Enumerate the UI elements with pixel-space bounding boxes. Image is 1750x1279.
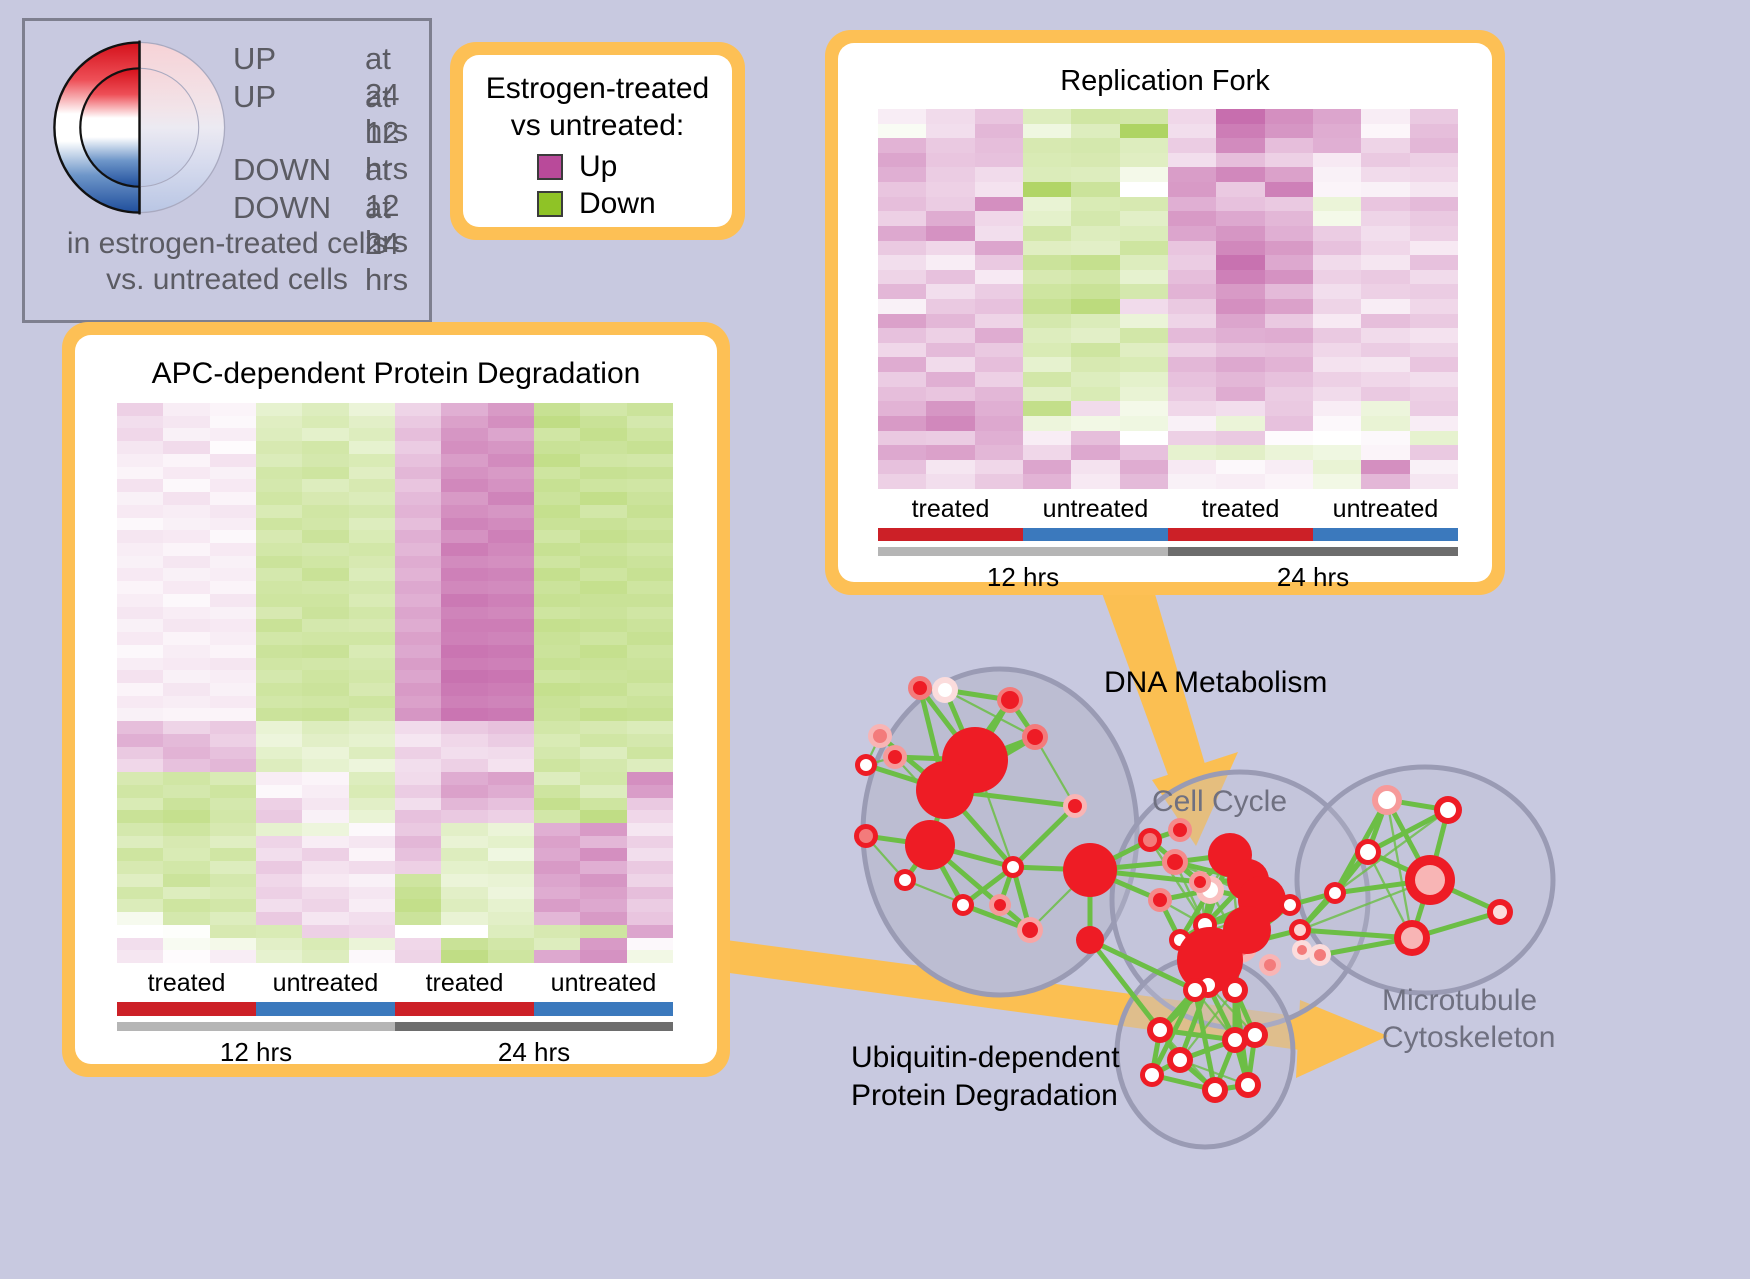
key-ring-label-down24: DOWN (233, 190, 331, 226)
heatmap-cell (926, 211, 974, 226)
heatmap-cell (1410, 401, 1458, 416)
heatmap-cell (580, 543, 626, 556)
heatmap-cell (302, 708, 348, 721)
heatmap-cell (117, 556, 163, 569)
heatmap-cell (1023, 167, 1071, 182)
heatmap-cell (302, 428, 348, 441)
heatmap-cell (210, 428, 256, 441)
heatmap-cell (534, 887, 580, 900)
heatmap-cell (975, 357, 1023, 372)
heatmap-cell (878, 197, 926, 212)
heatmap-cell (117, 823, 163, 836)
heatmap-cell (1313, 255, 1361, 270)
network-node (1022, 724, 1048, 750)
heatmap-cell (302, 467, 348, 480)
heatmap-cell (975, 299, 1023, 314)
heatmap-cell (163, 912, 209, 925)
heatmap-cell (627, 556, 673, 569)
heatmap-cell (117, 568, 163, 581)
heatmap-cell (302, 619, 348, 632)
heatmap-cell (627, 479, 673, 492)
heatmap-cell (117, 721, 163, 734)
heatmap-cell (534, 556, 580, 569)
time-label-12hrs: 12 hrs (878, 562, 1168, 594)
heatmap-cell (441, 416, 487, 429)
heatmap-cell (1216, 343, 1264, 358)
heatmap-cell (878, 167, 926, 182)
heatmap-cell (1265, 401, 1313, 416)
heatmap-cell (1216, 153, 1264, 168)
heatmap-cell (117, 670, 163, 683)
heatmap-cell (926, 372, 974, 387)
heatmap-cell (926, 124, 974, 139)
heatmap-cell (1313, 270, 1361, 285)
heatmap-cell (975, 401, 1023, 416)
heatmap-cell (1410, 328, 1458, 343)
heatmap-cell (488, 441, 534, 454)
network-node (1193, 913, 1217, 937)
heatmap-replication-fork[interactable] (878, 109, 1458, 489)
network-node (1183, 978, 1207, 1002)
heatmap-cell (1120, 314, 1168, 329)
heatmap-cell (117, 798, 163, 811)
heatmap-cell (627, 670, 673, 683)
heatmap-cell (163, 848, 209, 861)
treatment-bar-segment-untreated-12 (1023, 528, 1168, 541)
heatmap-cell (441, 632, 487, 645)
network-node (1222, 977, 1248, 1003)
network-node (1195, 972, 1221, 998)
heatmap-cell (1120, 387, 1168, 402)
treatment-bar-segment-untreated-12 (256, 1002, 395, 1016)
network-node (1189, 871, 1211, 893)
heatmap-cell (1265, 241, 1313, 256)
heatmap-cell (302, 556, 348, 569)
network-node (932, 677, 958, 703)
heatmap-cell (1410, 460, 1458, 475)
heatmap-cell (302, 479, 348, 492)
heatmap-cell (1361, 153, 1409, 168)
heatmap-cell (395, 836, 441, 849)
heatmap-cell (627, 454, 673, 467)
network-node-core (1173, 823, 1187, 837)
heatmap-cell (1071, 241, 1119, 256)
heatmap-cell (1168, 328, 1216, 343)
heatmap-cell (395, 912, 441, 925)
heatmap-cell (975, 387, 1023, 402)
heatmap-cell (1168, 197, 1216, 212)
heatmap-cell (1410, 474, 1458, 489)
half-circle-colorscale-icon (47, 35, 232, 220)
heatmap-cell (1168, 226, 1216, 241)
time-bar-segment-12hrs (878, 547, 1168, 556)
heatmap-cell (395, 632, 441, 645)
heatmap-cell (580, 670, 626, 683)
heatmap-cell (1410, 197, 1458, 212)
heatmap-cell (441, 670, 487, 683)
heatmap-cell (395, 823, 441, 836)
network-node (1259, 954, 1281, 976)
heatmap-cell (395, 479, 441, 492)
heatmap-cell (1410, 167, 1458, 182)
heatmap-cell (1071, 401, 1119, 416)
heatmap-cell (1313, 167, 1361, 182)
network-node-core (1493, 905, 1507, 919)
heatmap-cell (580, 403, 626, 416)
heatmap-cell (926, 270, 974, 285)
heatmap-cell (627, 543, 673, 556)
heatmap-cell (1168, 211, 1216, 226)
network-node (942, 727, 1008, 793)
heatmap-cell (580, 823, 626, 836)
heatmap-cell (580, 518, 626, 531)
heatmap-cell (441, 530, 487, 543)
legend-label-up: Up (579, 150, 617, 184)
heatmap-cell (975, 416, 1023, 431)
heatmap-cell (163, 899, 209, 912)
heatmap-cell (395, 454, 441, 467)
heatmap-cell (926, 357, 974, 372)
heatmap-cell (163, 670, 209, 683)
heatmap-cell (975, 460, 1023, 475)
heatmap-cell (1168, 387, 1216, 402)
heatmap-cell (878, 445, 926, 460)
heatmap-cell (349, 823, 395, 836)
heatmap-cell (210, 416, 256, 429)
heatmap-cell (256, 568, 302, 581)
heatmap-cell (395, 428, 441, 441)
heatmap-cell (441, 658, 487, 671)
heatmap-cell (349, 836, 395, 849)
heatmap-cell (210, 454, 256, 467)
heatmap-cell (210, 912, 256, 925)
heatmap-cell (395, 416, 441, 429)
heatmap-cell (1168, 416, 1216, 431)
legend-item-up[interactable]: Up (537, 148, 732, 185)
heatmap-cell (1120, 167, 1168, 182)
heatmap-cell (210, 708, 256, 721)
heatmap-cell (580, 912, 626, 925)
heatmap-cell (256, 848, 302, 861)
heatmap-cell (163, 887, 209, 900)
heatmap-cell (627, 938, 673, 951)
network-node (1289, 919, 1311, 941)
heatmap-cell (256, 594, 302, 607)
heatmap-cell (1313, 357, 1361, 372)
heatmap-cell (488, 658, 534, 671)
heatmap-cell (349, 619, 395, 632)
cluster-label-ubiquitin-line1: Ubiquitin-dependent (851, 1039, 1120, 1077)
network-node-core (1378, 791, 1396, 809)
heatmap-cell (210, 848, 256, 861)
heatmap-cell (349, 658, 395, 671)
network-node-core (1153, 1023, 1167, 1037)
heatmap-cell (117, 899, 163, 912)
treatment-bar-segment-treated-12 (878, 528, 1023, 541)
heatmap-cell (878, 255, 926, 270)
key-ring-label-down12: DOWN (233, 152, 331, 188)
heatmap-cell (1361, 241, 1409, 256)
heatmap-cell (163, 747, 209, 760)
heatmap-cell (349, 416, 395, 429)
network-node (1138, 828, 1162, 852)
heatmap-cell (878, 474, 926, 489)
heatmap-cell (1023, 416, 1071, 431)
heatmap-cell (926, 431, 974, 446)
heatmap-cell (488, 467, 534, 480)
heatmap-cell (441, 403, 487, 416)
heatmap-cell (117, 607, 163, 620)
network-node (1238, 876, 1286, 924)
heatmap-cell (627, 708, 673, 721)
heatmap-cell (349, 861, 395, 874)
heatmap-cell (488, 492, 534, 505)
heatmap-cell (302, 441, 348, 454)
heatmap-cell (1265, 357, 1313, 372)
heatmap-cell (163, 581, 209, 594)
heatmap-cell (534, 734, 580, 747)
heatmap-cell (1410, 211, 1458, 226)
heatmap-cell (1265, 314, 1313, 329)
network-node-core (1188, 983, 1202, 997)
heatmap-cell (163, 568, 209, 581)
heatmap-cell (878, 182, 926, 197)
heatmap-cell (580, 836, 626, 849)
heatmap-cell (627, 607, 673, 620)
network-node (1394, 920, 1430, 956)
panel-title-replication-fork: Replication Fork (838, 65, 1492, 98)
heatmap-cell (1023, 255, 1071, 270)
group-label-treated-12: treated (117, 969, 256, 999)
network-node (1196, 876, 1224, 904)
heatmap-cell (256, 428, 302, 441)
network-node (1372, 785, 1402, 815)
network-node-core (1360, 844, 1376, 860)
time-label-12hrs: 12 hrs (117, 1037, 395, 1069)
heatmap-cell (117, 848, 163, 861)
heatmap-cell (488, 556, 534, 569)
heatmap-cell (1120, 284, 1168, 299)
heatmap-cell (163, 467, 209, 480)
heatmap-cell (627, 645, 673, 658)
heatmap-cell (627, 848, 673, 861)
heatmap-cell (580, 530, 626, 543)
heatmap-cell (1071, 284, 1119, 299)
heatmap-cell (395, 556, 441, 569)
network-node-core (1228, 1033, 1242, 1047)
legend-item-down[interactable]: Down (537, 185, 732, 222)
heatmap-cell (975, 211, 1023, 226)
heatmap-cell (441, 734, 487, 747)
heatmap-cell (163, 785, 209, 798)
network-node-core (938, 683, 952, 697)
heatmap-cell (302, 938, 348, 951)
heatmap-cell (488, 645, 534, 658)
heatmap-cell (441, 912, 487, 925)
heatmap-cell (1265, 153, 1313, 168)
heatmap-cell (210, 785, 256, 798)
heatmap-cell (878, 314, 926, 329)
heatmap-cell (395, 861, 441, 874)
heatmap-cell (975, 314, 1023, 329)
heatmap-cell (627, 658, 673, 671)
heatmap-cell (349, 912, 395, 925)
heatmap-cell (580, 696, 626, 709)
heatmap-cell (534, 721, 580, 734)
heatmap-cell (441, 721, 487, 734)
heatmap-cell (926, 167, 974, 182)
heatmap-cell (395, 772, 441, 785)
heatmap-cell (117, 428, 163, 441)
heatmap-cell (256, 708, 302, 721)
heatmap-cell (256, 950, 302, 963)
heatmap-cell (117, 594, 163, 607)
heatmap-cell (441, 568, 487, 581)
heatmap-cell (1410, 109, 1458, 124)
network-node (1063, 794, 1087, 818)
heatmap-cell (349, 798, 395, 811)
heatmap-cell (256, 556, 302, 569)
heatmap-cell (1071, 445, 1119, 460)
heatmap-cell (441, 467, 487, 480)
heatmap-cell (210, 925, 256, 938)
legend-swatch-up-icon (537, 154, 563, 180)
heatmap-cell (441, 428, 487, 441)
network-node-core (1001, 691, 1019, 709)
heatmap-cell (1361, 197, 1409, 212)
network-node-core (994, 899, 1006, 911)
heatmap-cell (1120, 401, 1168, 416)
heatmap-cell (580, 645, 626, 658)
heatmap-cell (1168, 445, 1216, 460)
heatmap-cell (256, 467, 302, 480)
heatmap-cell (441, 823, 487, 836)
heatmap-cell (117, 530, 163, 543)
heatmap-cell (1120, 226, 1168, 241)
heatmap-cell (1361, 167, 1409, 182)
heatmap-cell (1168, 372, 1216, 387)
heatmap-cell (1071, 431, 1119, 446)
heatmap-cell (878, 211, 926, 226)
heatmap-cell (1071, 343, 1119, 358)
time-labels-replication-fork: 12 hrs 24 hrs (878, 562, 1458, 594)
treatment-bar-segment-treated-24 (395, 1002, 534, 1016)
heatmap-cell (210, 594, 256, 607)
heatmap-cell (1071, 387, 1119, 402)
heatmap-cell (1361, 357, 1409, 372)
key-footnote-line1: in estrogen-treated cells (25, 226, 429, 262)
heatmap-cell (1410, 182, 1458, 197)
heatmap-cell (627, 798, 673, 811)
key-ring-label-up12: UP (233, 79, 276, 115)
network-node (1167, 1047, 1193, 1073)
heatmap-cell (1023, 357, 1071, 372)
heatmap-cell (1361, 314, 1409, 329)
heatmap-cell (1313, 299, 1361, 314)
network-node-core (1007, 861, 1019, 873)
heatmap-cell (975, 182, 1023, 197)
key-footnote-line2: vs. untreated cells (25, 262, 429, 298)
heatmap-cell (302, 823, 348, 836)
heatmap-cell (1410, 343, 1458, 358)
heatmap-cell (1120, 474, 1168, 489)
heatmap-cell (441, 810, 487, 823)
network-node (1177, 927, 1243, 993)
heatmap-cell (395, 747, 441, 760)
heatmap-cell (349, 645, 395, 658)
heatmap-cell (1023, 226, 1071, 241)
heatmap-cell (395, 899, 441, 912)
heatmap-cell (488, 785, 534, 798)
heatmap-cell (1313, 211, 1361, 226)
heatmap-cell (534, 530, 580, 543)
heatmap-cell (627, 887, 673, 900)
heatmap-cell (117, 925, 163, 938)
heatmap-cell (1410, 138, 1458, 153)
heatmap-cell (534, 747, 580, 760)
heatmap-cell (926, 387, 974, 402)
heatmap-cell (441, 861, 487, 874)
time-bar-segment-24hrs (1168, 547, 1458, 556)
heatmap-cell (1168, 167, 1216, 182)
heatmap-cell (926, 460, 974, 475)
heatmap-cell (488, 696, 534, 709)
heatmap-cell (210, 670, 256, 683)
heatmap-cell (488, 670, 534, 683)
heatmap-cell (1023, 460, 1071, 475)
heatmap-cell (117, 747, 163, 760)
network-node (1222, 1027, 1248, 1053)
heatmap-cell (349, 428, 395, 441)
heatmap-apc-dependent[interactable] (117, 403, 673, 963)
heatmap-cell (975, 328, 1023, 343)
legend-title-line2: vs untreated: (463, 107, 732, 144)
heatmap-cell (1120, 197, 1168, 212)
heatmap-cell (1023, 270, 1071, 285)
heatmap-cell (395, 950, 441, 963)
network-node-core (1202, 882, 1218, 898)
heatmap-cell (302, 747, 348, 760)
heatmap-cell (1120, 299, 1168, 314)
network-node (916, 761, 974, 819)
heatmap-cell (488, 403, 534, 416)
heatmap-cell (210, 810, 256, 823)
group-label-treated-24: treated (1168, 495, 1313, 525)
heatmap-cell (210, 899, 256, 912)
heatmap-cell (926, 109, 974, 124)
heatmap-cell (210, 683, 256, 696)
heatmap-cell (210, 505, 256, 518)
heatmap-cell (163, 454, 209, 467)
heatmap-cell (1168, 124, 1216, 139)
heatmap-cell (534, 759, 580, 772)
network-node (1147, 1017, 1173, 1043)
heatmap-cell (302, 721, 348, 734)
network-node (905, 820, 955, 870)
network-node (1017, 917, 1043, 943)
heatmap-cell (580, 594, 626, 607)
heatmap-cell (627, 594, 673, 607)
heatmap-cell (302, 810, 348, 823)
heatmap-cell (488, 747, 534, 760)
heatmap-cell (488, 938, 534, 951)
heatmap-cell (302, 658, 348, 671)
heatmap-cell (163, 479, 209, 492)
heatmap-cell (1216, 241, 1264, 256)
heatmap-cell (1071, 460, 1119, 475)
heatmap-cell (256, 734, 302, 747)
heatmap-cell (1168, 109, 1216, 124)
